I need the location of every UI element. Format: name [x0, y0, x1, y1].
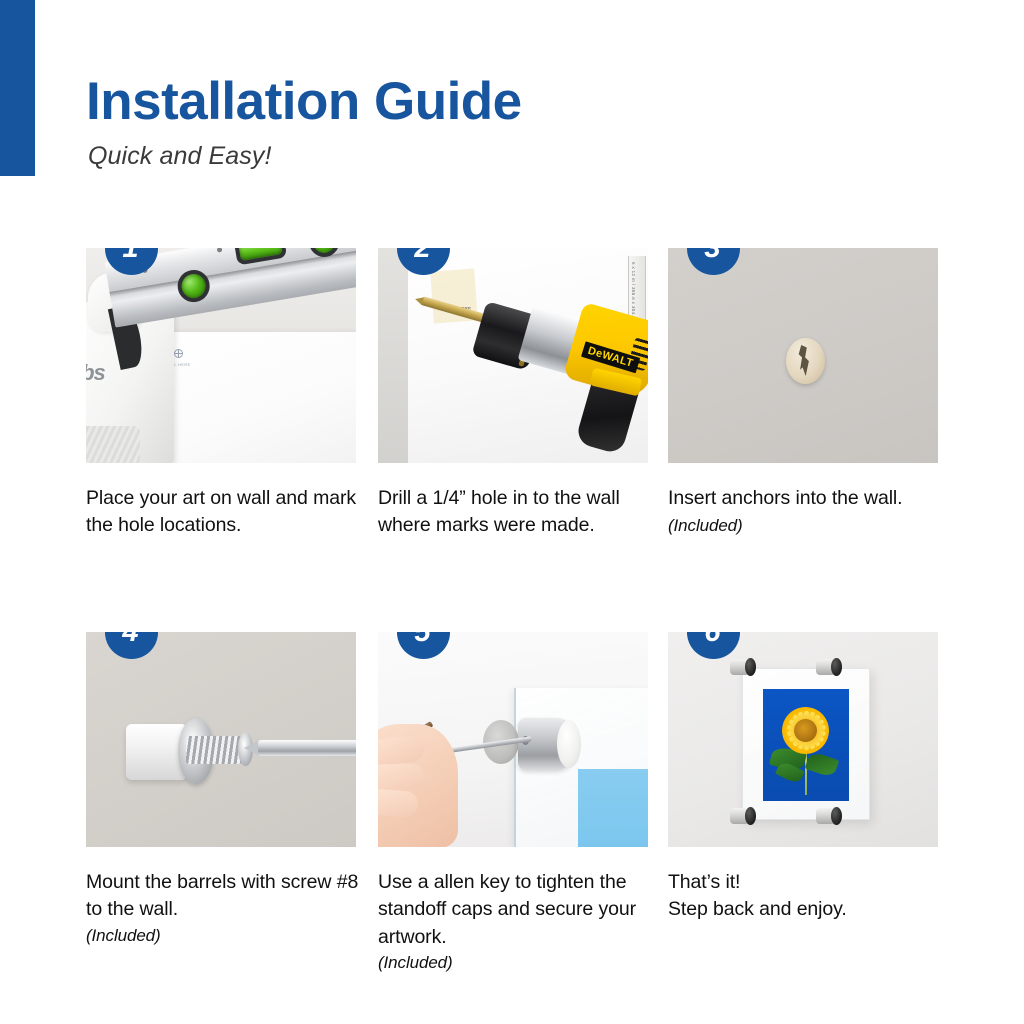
standoff-top-right — [816, 659, 840, 675]
step-caption-3: Insert anchors into the wall. (Included) — [668, 485, 946, 540]
finger-ring — [378, 788, 419, 818]
step-1-photo: DRILL HERE lbs 1 — [86, 248, 356, 463]
standoff-top-left — [730, 659, 754, 675]
step-4-photo: 4 — [86, 632, 356, 847]
step-card-4: 4 Mount the barrels with screw #8 to the… — [86, 632, 356, 947]
sunflower-center — [794, 719, 817, 742]
step-caption-4: Mount the barrels with screw #8 to the w… — [86, 869, 364, 947]
standoff-cap-dark — [745, 658, 756, 676]
step-6-photo: 6 — [668, 632, 938, 847]
step-caption-6: That’s it! Step back and enjoy. — [668, 869, 946, 924]
step-card-6: 6 That’s it! Step back and enjoy. — [668, 632, 938, 924]
barrel-standoff — [126, 724, 186, 780]
step-badge-6: 6 — [687, 632, 740, 659]
step-card-1: DRILL HERE lbs 1 Place your — [86, 248, 356, 540]
step-caption-2: Drill a 1/4” hole in to the wall where m… — [378, 485, 656, 540]
step-card-2: 6 x 12 in / 355.6 x 304.8 cm DRILL HERE … — [378, 248, 648, 540]
wall-anchor — [786, 338, 825, 384]
step-caption-3-text: Insert anchors into the wall. — [668, 487, 902, 509]
step-note-5: (Included) — [378, 951, 656, 975]
sunflower-artwork — [763, 689, 849, 801]
standoff-cap-dark — [831, 658, 842, 676]
step-5-photo: 5 — [378, 632, 648, 847]
hand — [378, 724, 458, 847]
hole-mark-icon — [174, 349, 183, 358]
phillips-screwdriver — [258, 740, 356, 756]
step-caption-5-text: Use a allen key to tighten the standoff … — [378, 871, 636, 948]
standoff-bottom-left — [730, 808, 754, 824]
step-badge-4: 4 — [105, 632, 158, 659]
finger-index — [378, 735, 425, 767]
artwork-board: DRILL HERE — [148, 332, 356, 463]
glove-cuff — [86, 426, 140, 463]
step-caption-4-text: Mount the barrels with screw #8 to the w… — [86, 871, 358, 920]
step-card-5: 5 Use a allen key to tighten the standof… — [378, 632, 648, 975]
standoff-cap-face — [557, 720, 581, 768]
step-note-4: (Included) — [86, 924, 364, 948]
installation-guide-page: Installation Guide Quick and Easy! DRILL… — [0, 0, 1024, 1024]
step-card-3: 3 Insert anchors into the wall. (Include… — [668, 248, 938, 540]
finger-middle — [378, 763, 424, 791]
step-caption-5: Use a allen key to tighten the standoff … — [378, 869, 656, 975]
screw-thread — [186, 736, 242, 764]
step-3-photo: 3 — [668, 248, 938, 463]
dewalt-logo: DeWALT — [581, 341, 640, 373]
blue-artwork-area — [578, 769, 648, 847]
flower-leaf-right — [805, 750, 840, 778]
anchor-slot — [797, 345, 811, 376]
standoff-cap-dark — [831, 807, 842, 825]
mounted-acrylic-frame — [742, 668, 870, 820]
step-caption-1: Place your art on wall and mark the hole… — [86, 485, 364, 540]
level-vial-left — [175, 268, 212, 305]
standoff-cap-dark — [745, 807, 756, 825]
step-note-3: (Included) — [668, 516, 743, 535]
step-badge-3: 3 — [687, 248, 740, 275]
level-screw-2 — [217, 248, 223, 253]
standoff-bottom-right — [816, 808, 840, 824]
step-2-photo: 6 x 12 in / 355.6 x 304.8 cm DRILL HERE … — [378, 248, 648, 463]
wall-side-edge — [378, 248, 410, 463]
steps-grid: DRILL HERE lbs 1 Place your — [0, 0, 1024, 1024]
